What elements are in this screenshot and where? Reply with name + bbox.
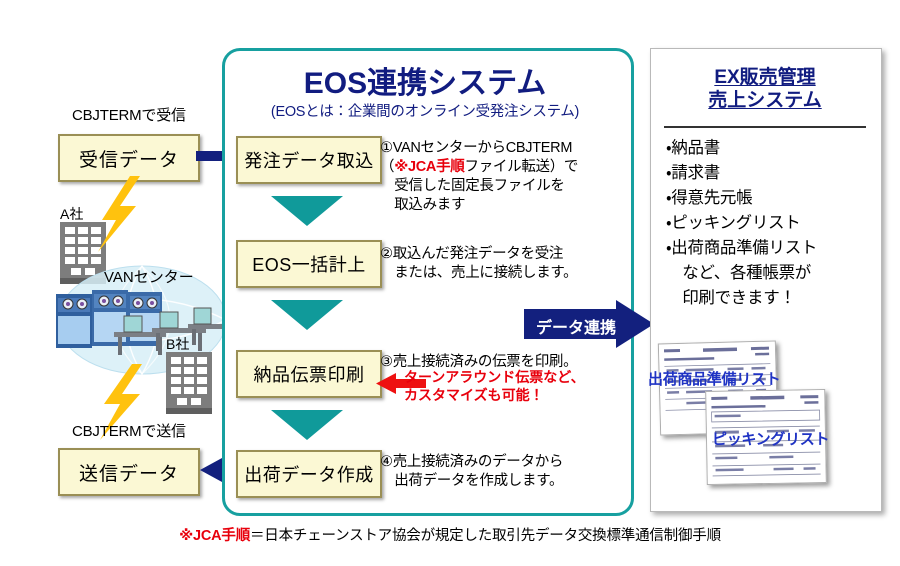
van-center-label: VANセンター xyxy=(104,266,194,287)
step-1-description: ①VANセンターからCBJTERM（※JCA手順ファイル転送）で 受信した固定長… xyxy=(380,139,578,216)
ex-report-list: ・納品書 ・請求書 ・得意先元帳 ・ピッキングリスト ・出荷商品準備リスト など… xyxy=(666,136,817,312)
flow-arrow-3-icon xyxy=(271,410,343,440)
send-caption: CBJTERMで送信 xyxy=(72,420,186,441)
flow-arrow-2-icon xyxy=(271,300,343,330)
ex-panel-divider xyxy=(664,126,866,128)
doc1-label: 出荷商品準備リスト xyxy=(648,368,780,389)
data-link-label: データ連携 xyxy=(536,314,616,338)
company-b-label: B社 xyxy=(166,334,189,354)
step-box-2[interactable]: EOS一括計上 xyxy=(236,240,382,288)
desc1-line3: 受信した固定長ファイルを xyxy=(380,178,565,194)
send-data-box: 送信データ xyxy=(58,448,200,496)
diagram-canvas: CBJTERMで受信 受信データ A社 xyxy=(0,0,900,566)
step-3-red-note: ターンアラウンド伝票など、 カスタマイズも可能！ xyxy=(404,369,585,404)
step-box-4[interactable]: 出荷データ作成 xyxy=(236,450,382,498)
desc1-line4: 取込みます xyxy=(380,197,465,213)
panel-subtitle: (EOSとは：企業間のオンライン受発注システム) xyxy=(222,100,628,121)
step-box-3[interactable]: 納品伝票印刷 xyxy=(236,350,382,398)
company-a-label: A社 xyxy=(60,204,83,224)
footnote-marker: ※JCA手順 xyxy=(179,528,250,544)
panel-title: EOS連携システム xyxy=(222,58,628,102)
lightning-bolt-top-icon xyxy=(96,176,142,252)
receive-data-box: 受信データ xyxy=(58,134,200,182)
step-2-description: ②取込んだ発注データを受注 または、売上に接続します。 xyxy=(380,245,577,283)
ex-panel-title: EX販売管理売上システム xyxy=(650,66,880,112)
doc2-label: ピッキングリスト xyxy=(712,428,829,449)
footnote-text: ＝日本チェーンストア協会が規定した取引先データ交換標準通信制御手順 xyxy=(250,528,721,544)
step-box-1[interactable]: 発注データ取込 xyxy=(236,136,382,184)
ex-title-line2: 売上システム xyxy=(708,90,821,111)
desc1-jca-marker: （※JCA手順 xyxy=(380,159,465,175)
desc1-rest: ファイル転送）で xyxy=(465,159,579,175)
company-b-building-icon xyxy=(164,352,214,414)
step-4-description: ④売上接続済みのデータから 出荷データを作成します。 xyxy=(380,453,563,491)
receive-caption: CBJTERMで受信 xyxy=(72,104,186,125)
desc1-line1: ①VANセンターからCBJTERM xyxy=(380,140,572,156)
flow-arrow-1-icon xyxy=(271,196,343,226)
ex-title-line1: EX販売管理 xyxy=(714,67,815,88)
footnote: ※JCA手順＝日本チェーンストア協会が規定した取引先データ交換標準通信制御手順 xyxy=(0,524,900,545)
